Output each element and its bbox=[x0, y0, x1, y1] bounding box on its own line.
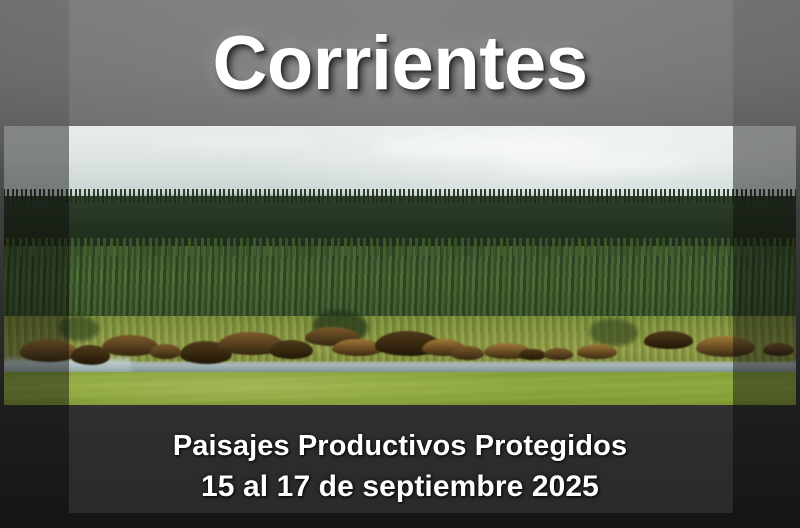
photo-right-vignette bbox=[733, 126, 796, 405]
capybara bbox=[270, 340, 313, 358]
capybara bbox=[150, 344, 182, 359]
caption-block: Paisajes Productivos Protegidos 15 al 17… bbox=[0, 405, 800, 528]
photo-left-vignette bbox=[4, 126, 69, 405]
capybara bbox=[544, 348, 573, 360]
caption-subtitle: Paisajes Productivos Protegidos bbox=[173, 428, 627, 464]
capybara bbox=[577, 344, 617, 359]
caption-dates: 15 al 17 de septiembre 2025 bbox=[201, 468, 599, 506]
capybara bbox=[644, 331, 693, 348]
capybara bbox=[519, 349, 546, 361]
pine-plantation bbox=[4, 246, 796, 324]
pasture-sunlight bbox=[4, 372, 796, 405]
presentation-slide: Corrientes Paisajes Productivos P bbox=[0, 0, 800, 528]
title-area: Corrientes bbox=[0, 8, 800, 120]
cloud-1 bbox=[368, 137, 606, 157]
capybara bbox=[451, 346, 484, 360]
landscape-photo bbox=[4, 126, 796, 405]
shrub-3 bbox=[590, 319, 638, 347]
page-title: Corrientes bbox=[212, 26, 587, 102]
photo-scene bbox=[4, 126, 796, 405]
